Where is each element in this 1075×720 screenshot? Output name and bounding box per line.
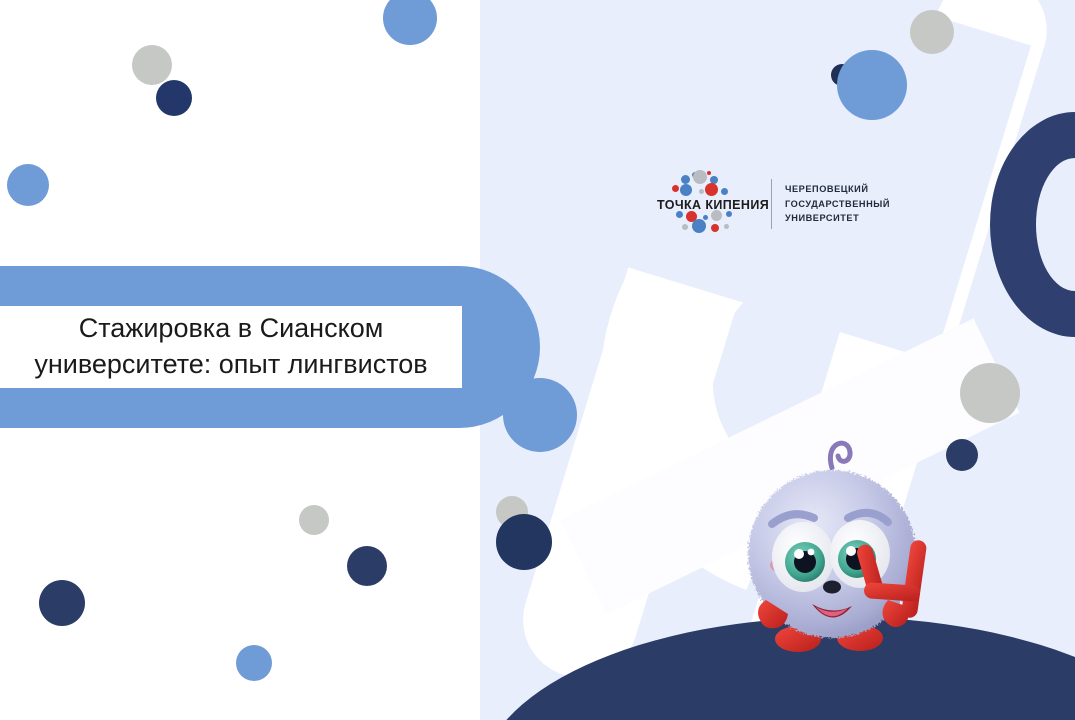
mascot-icon bbox=[720, 432, 950, 662]
circle-navy-upper-left bbox=[156, 80, 192, 116]
circle-navy-lower-mid bbox=[496, 514, 552, 570]
circle-grey-upper-left bbox=[132, 45, 172, 85]
university-name-line2: ГОСУДАРСТВЕННЫЙ bbox=[785, 197, 890, 212]
university-name-line1: ЧЕРЕПОВЕЦКИЙ bbox=[785, 182, 890, 197]
logo-dot-7 bbox=[699, 189, 704, 194]
logo-dot-18 bbox=[724, 224, 729, 229]
logo-dot-3 bbox=[693, 170, 707, 184]
logo-dot-2 bbox=[681, 175, 690, 184]
title-container: Стажировка в Сианском университете: опыт… bbox=[0, 306, 462, 388]
circle-blue-mid-left bbox=[7, 164, 49, 206]
page-title: Стажировка в Сианском университете: опыт… bbox=[11, 311, 451, 382]
presentation-slide: Стажировка в Сианском университете: опыт… bbox=[0, 0, 1075, 720]
university-name: ЧЕРЕПОВЕЦКИЙ ГОСУДАРСТВЕННЫЙ УНИВЕРСИТЕТ bbox=[785, 182, 890, 227]
circle-grey-top-right bbox=[910, 10, 954, 54]
circle-grey-right-lower bbox=[960, 363, 1020, 423]
logo-dot-1 bbox=[707, 171, 711, 175]
logo-dot-6 bbox=[680, 184, 692, 196]
circle-blue-bottom-mid bbox=[236, 645, 272, 681]
circle-blue-top-right bbox=[837, 50, 907, 120]
university-name-line3: УНИВЕРСИТЕТ bbox=[785, 211, 890, 226]
logo-dot-5 bbox=[672, 185, 679, 192]
circle-navy-right-lower bbox=[946, 439, 978, 471]
circle-navy-bottom-mid bbox=[347, 546, 387, 586]
logo-dot-9 bbox=[721, 188, 728, 195]
tochka-kipeniya-dots-icon: ТОЧКА КИПЕНИЯ bbox=[655, 172, 765, 236]
circle-navy-bottom-left bbox=[39, 580, 85, 626]
logo-dot-16 bbox=[692, 219, 706, 233]
logo-wordmark: ТОЧКА КИПЕНИЯ bbox=[657, 198, 769, 212]
mascot-character bbox=[720, 432, 950, 662]
logo-dot-12 bbox=[703, 215, 708, 220]
logo-dot-8 bbox=[705, 183, 718, 196]
circle-grey-bottom-mid bbox=[299, 505, 329, 535]
logo-dot-17 bbox=[711, 224, 719, 232]
logo-dot-15 bbox=[682, 224, 688, 230]
logo-lockup: ТОЧКА КИПЕНИЯ ЧЕРЕПОВЕЦКИЙ ГОСУДАРСТВЕНН… bbox=[655, 172, 925, 236]
logo-divider bbox=[771, 179, 772, 229]
